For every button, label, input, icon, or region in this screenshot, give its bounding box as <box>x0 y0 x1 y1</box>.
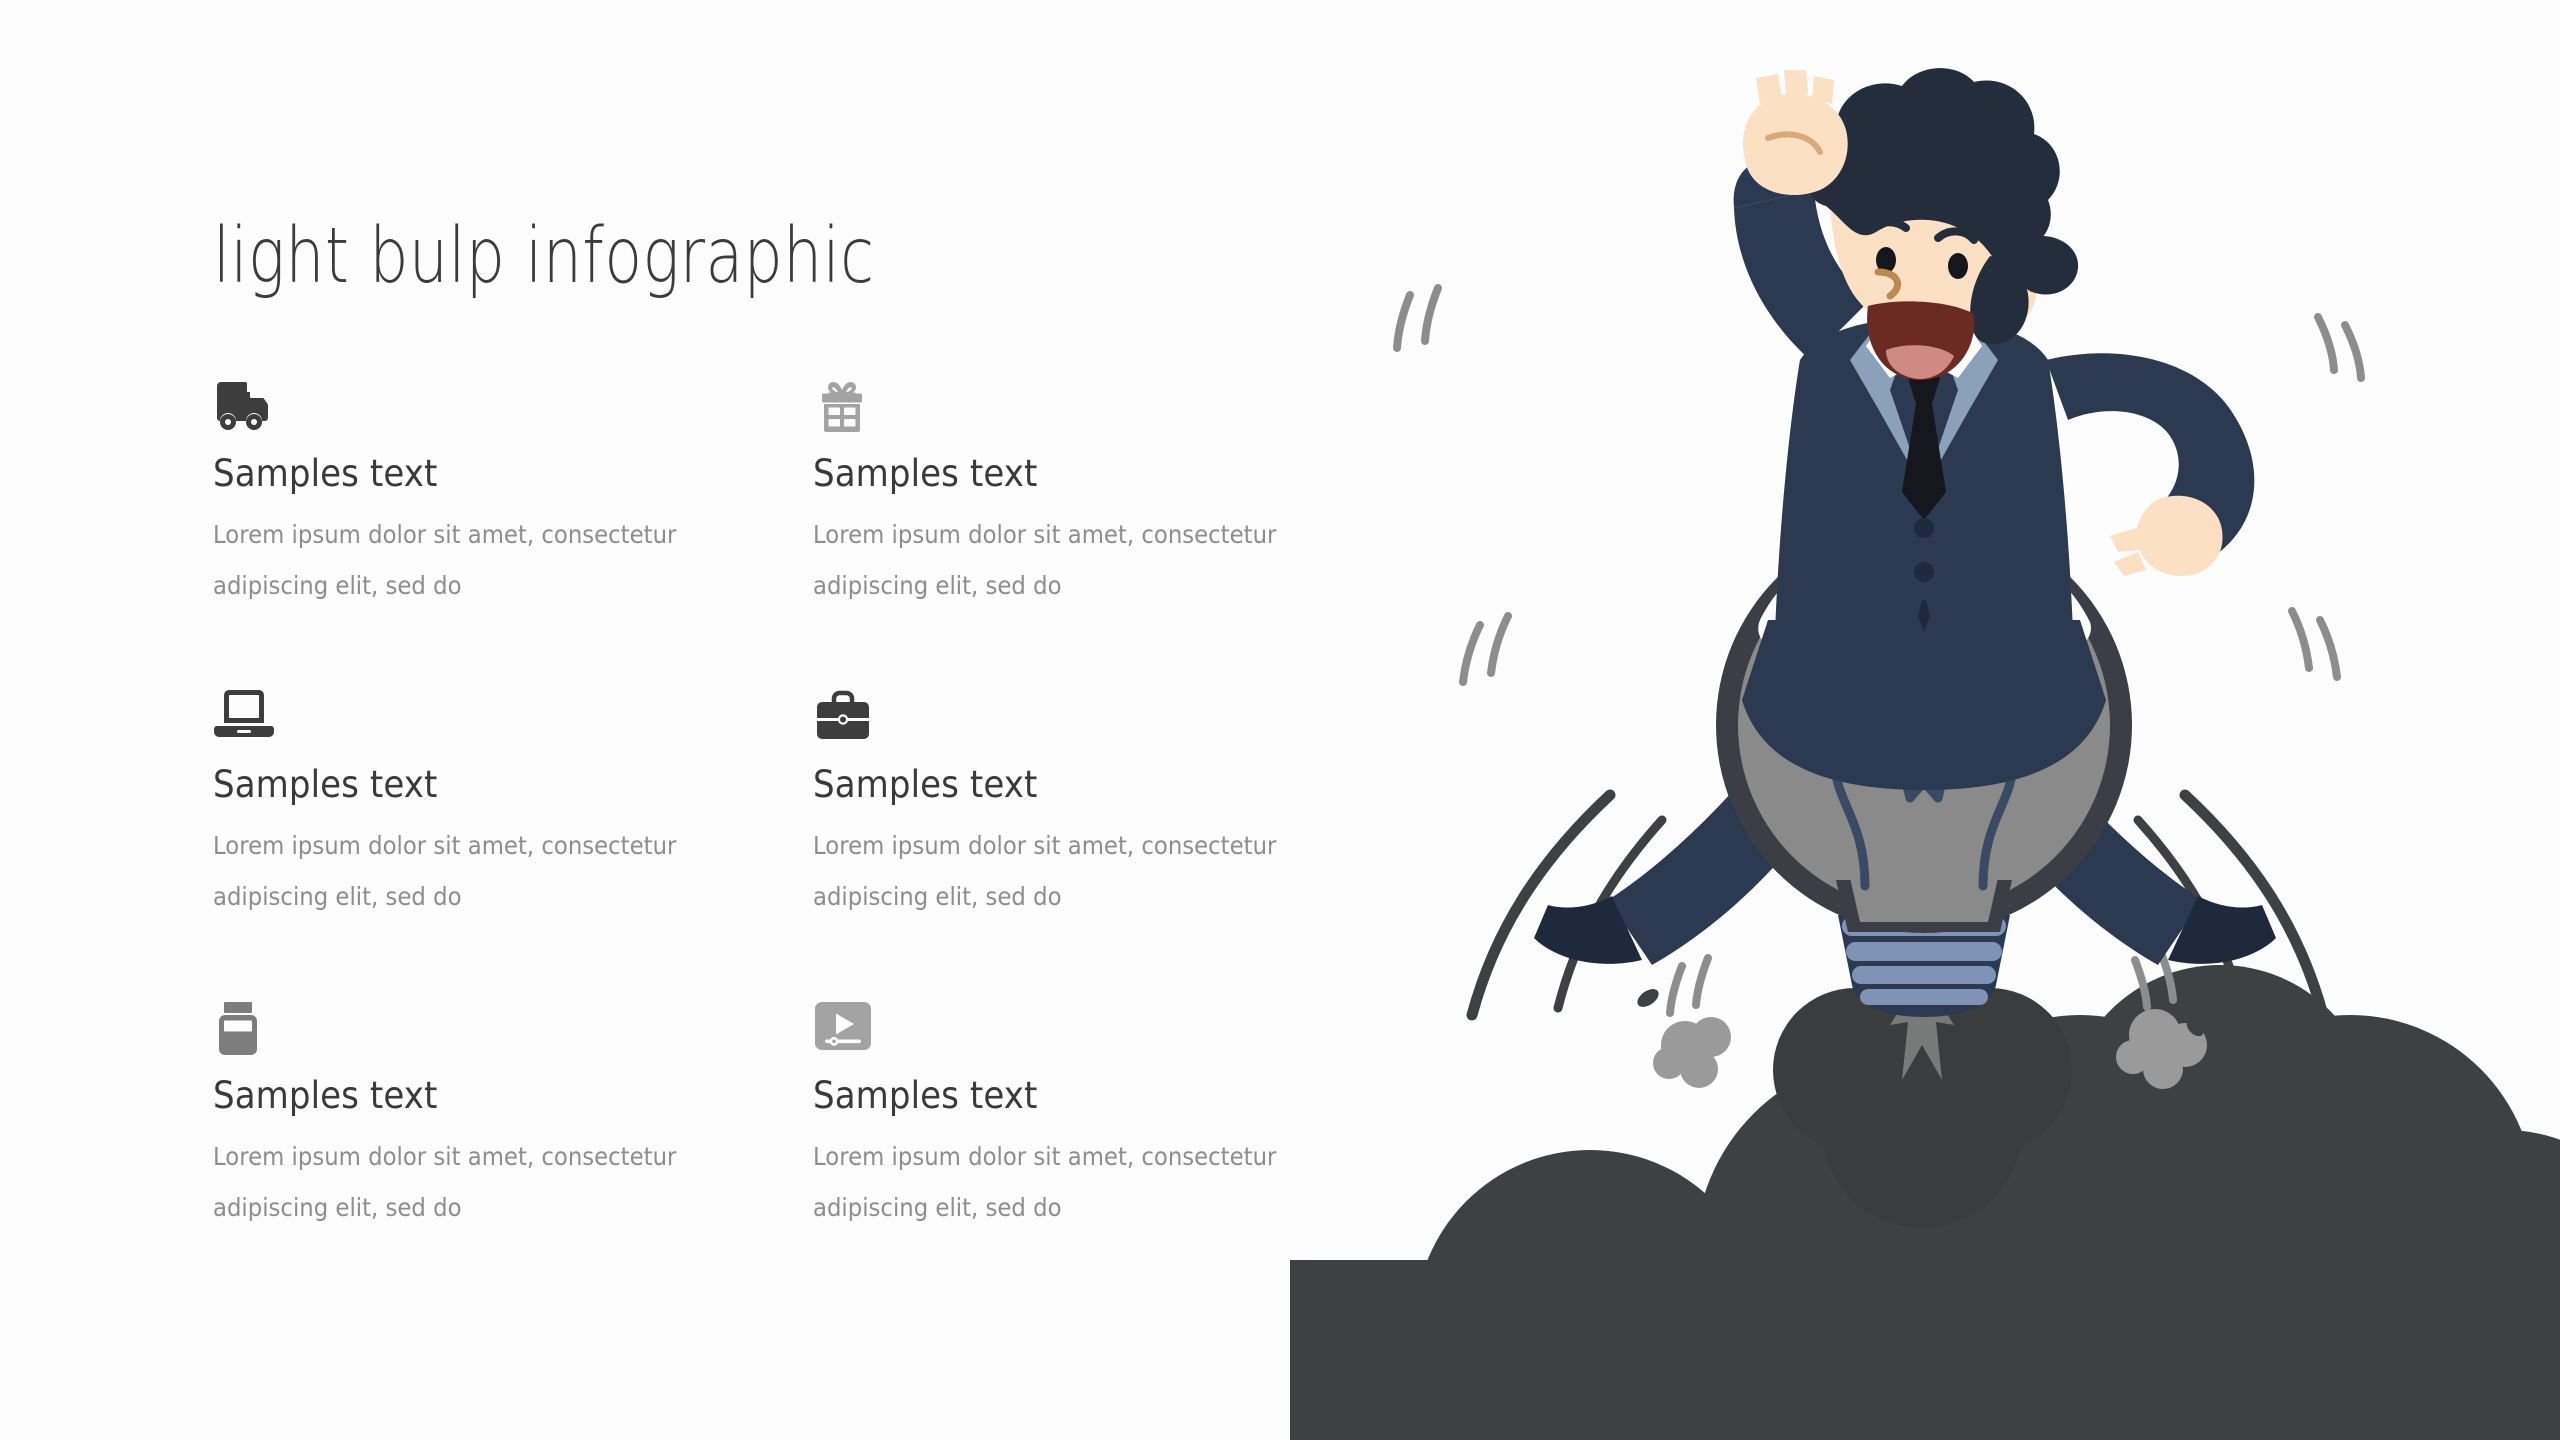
feature-item-video[interactable]: Samples text Lorem ipsum dolor sit amet,… <box>813 1000 1333 1311</box>
infographic-slide: light bulp infographic Samples text Lore… <box>0 0 2560 1440</box>
page-title: light bulp infographic <box>213 212 874 301</box>
video-player-icon <box>813 1000 1333 1062</box>
businessman-riding-light-bulb-rocket-illustration <box>1290 60 2560 1440</box>
feature-body: Lorem ipsum dolor sit amet, consectetur … <box>813 1131 1297 1233</box>
feature-item-truck[interactable]: Samples text Lorem ipsum dolor sit amet,… <box>213 378 813 689</box>
feature-item-jar[interactable]: Samples text Lorem ipsum dolor sit amet,… <box>213 1000 813 1311</box>
feature-grid: Samples text Lorem ipsum dolor sit amet,… <box>213 378 1333 1311</box>
laptop-icon <box>213 689 813 751</box>
gift-icon <box>813 378 1333 440</box>
feature-body: Lorem ipsum dolor sit amet, consectetur … <box>213 1131 697 1233</box>
feature-title: Samples text <box>213 763 765 806</box>
feature-body: Lorem ipsum dolor sit amet, consectetur … <box>213 820 697 922</box>
feature-item-gift[interactable]: Samples text Lorem ipsum dolor sit amet,… <box>813 378 1333 689</box>
briefcase-icon <box>813 689 1333 751</box>
feature-item-briefcase[interactable]: Samples text Lorem ipsum dolor sit amet,… <box>813 689 1333 1000</box>
jar-icon <box>213 1000 813 1062</box>
feature-title: Samples text <box>213 452 765 495</box>
feature-title: Samples text <box>213 1074 765 1117</box>
feature-title: Samples text <box>813 1074 1291 1117</box>
feature-body: Lorem ipsum dolor sit amet, consectetur … <box>813 820 1297 922</box>
feature-title: Samples text <box>813 452 1291 495</box>
feature-body: Lorem ipsum dolor sit amet, consectetur … <box>213 509 697 611</box>
feature-title: Samples text <box>813 763 1291 806</box>
truck-icon <box>213 378 813 440</box>
feature-item-laptop[interactable]: Samples text Lorem ipsum dolor sit amet,… <box>213 689 813 1000</box>
raised-fist <box>1743 70 1848 195</box>
feature-body: Lorem ipsum dolor sit amet, consectetur … <box>813 509 1297 611</box>
